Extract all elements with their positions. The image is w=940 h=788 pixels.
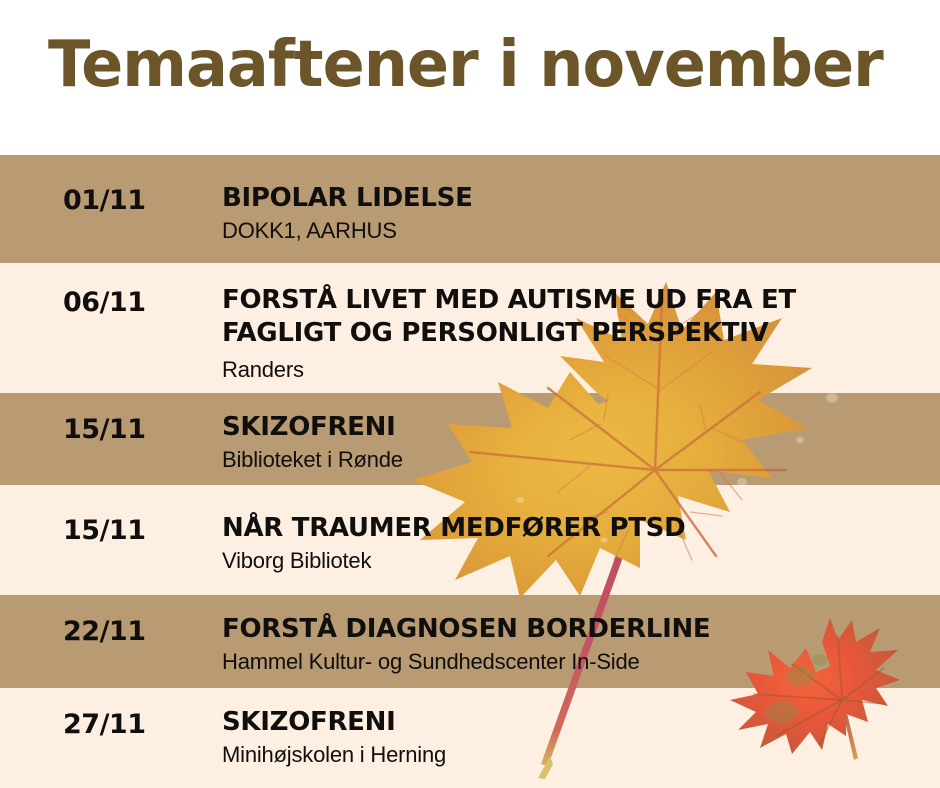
event-venue: Biblioteket i Rønde (222, 446, 403, 474)
event-title: FORSTÅ LIVET MED AUTISME UD FRA ET FAGLI… (222, 284, 842, 350)
event-body: SKIZOFRENI Biblioteket i Rønde (222, 411, 403, 474)
list-item: 22/11 FORSTÅ DIAGNOSEN BORDERLINE Hammel… (0, 595, 940, 688)
event-date: 01/11 (63, 185, 146, 216)
list-item: 06/11 FORSTÅ LIVET MED AUTISME UD FRA ET… (0, 263, 940, 393)
event-venue: Viborg Bibliotek (222, 547, 685, 575)
event-title: NÅR TRAUMER MEDFØRER PTSD (222, 512, 685, 545)
event-body: BIPOLAR LIDELSE DOKK1, AARHUS (222, 182, 473, 245)
list-item: 15/11 NÅR TRAUMER MEDFØRER PTSD Viborg B… (0, 485, 940, 595)
event-body: FORSTÅ LIVET MED AUTISME UD FRA ET FAGLI… (222, 284, 842, 384)
event-venue: Hammel Kultur- og Sundhedscenter In-Side (222, 648, 710, 676)
event-title: SKIZOFRENI (222, 706, 446, 739)
page-title: Temaaftener i november (48, 28, 883, 102)
list-item: 27/11 SKIZOFRENI Minihøjskolen i Herning (0, 688, 940, 788)
event-venue: DOKK1, AARHUS (222, 217, 473, 245)
event-date: 22/11 (63, 616, 146, 647)
event-date: 15/11 (63, 515, 146, 546)
event-body: NÅR TRAUMER MEDFØRER PTSD Viborg Bibliot… (222, 512, 685, 575)
event-date: 06/11 (63, 287, 146, 318)
list-item: 15/11 SKIZOFRENI Biblioteket i Rønde (0, 393, 940, 485)
event-title: FORSTÅ DIAGNOSEN BORDERLINE (222, 613, 710, 646)
poster-header: Temaaftener i november (0, 0, 940, 155)
poster-canvas: Temaaftener i november 01/11 BIPOLAR LID… (0, 0, 940, 788)
event-title: BIPOLAR LIDELSE (222, 182, 473, 215)
event-title: SKIZOFRENI (222, 411, 403, 444)
list-item: 01/11 BIPOLAR LIDELSE DOKK1, AARHUS (0, 155, 940, 263)
event-venue: Minihøjskolen i Herning (222, 741, 446, 769)
event-body: SKIZOFRENI Minihøjskolen i Herning (222, 706, 446, 769)
event-date: 15/11 (63, 414, 146, 445)
event-body: FORSTÅ DIAGNOSEN BORDERLINE Hammel Kultu… (222, 613, 710, 676)
event-venue: Randers (222, 356, 842, 384)
event-date: 27/11 (63, 709, 146, 740)
